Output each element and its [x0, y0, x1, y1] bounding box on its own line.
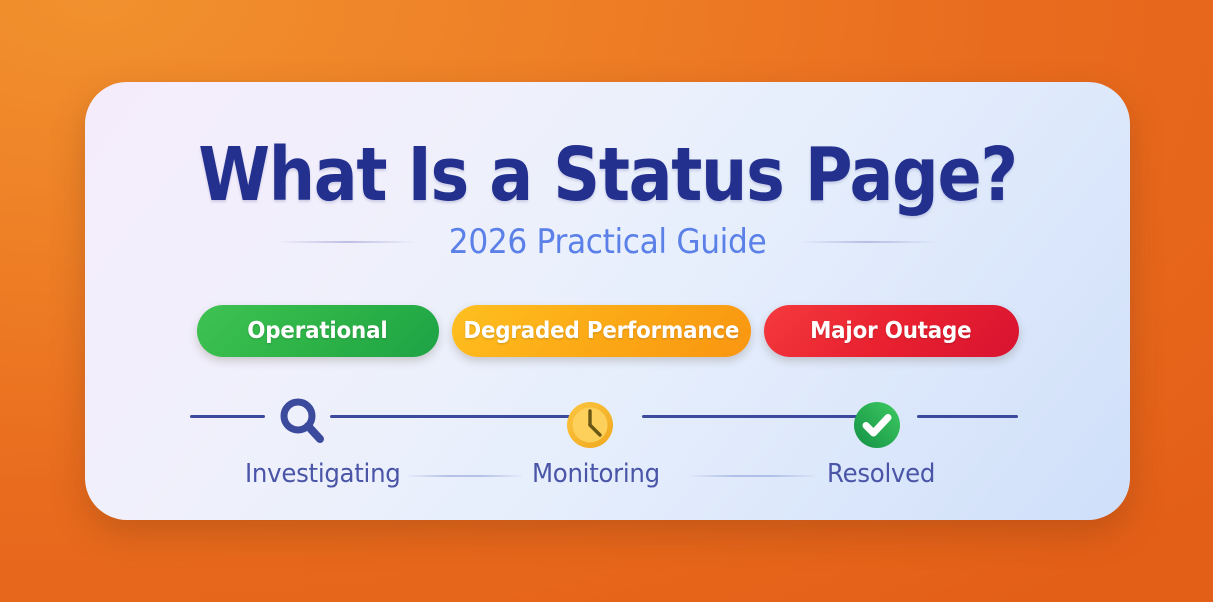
- status-badge-group: Operational Degraded Performance Major O…: [85, 305, 1130, 357]
- badge-degraded-performance-label: Degraded Performance: [463, 318, 739, 344]
- incident-timeline: Investigating Monitoring Resolved: [190, 397, 1018, 497]
- timeline-connector-3: [642, 415, 872, 418]
- badge-major-outage-label: Major Outage: [810, 318, 971, 344]
- page-subtitle: 2026 Practical Guide: [449, 222, 767, 262]
- status-page-card: What Is a Status Page? 2026 Practical Gu…: [85, 82, 1130, 520]
- badge-operational-label: Operational: [247, 318, 387, 344]
- subtitle-rule-right: [798, 241, 938, 243]
- badge-operational[interactable]: Operational: [197, 305, 439, 357]
- timeline-connector-4: [917, 415, 1018, 418]
- badge-major-outage[interactable]: Major Outage: [764, 305, 1019, 357]
- timeline-connector-1: [190, 415, 265, 418]
- subtitle-rule-left: [277, 241, 417, 243]
- check-circle-icon: [849, 397, 905, 453]
- timeline-label-connectors: [190, 475, 1018, 478]
- timeline-label-monitoring: Monitoring: [532, 459, 660, 489]
- timeline-label-resolved: Resolved: [827, 459, 935, 489]
- timeline-connector-2: [330, 415, 597, 418]
- poster-canvas: What Is a Status Page? 2026 Practical Gu…: [0, 0, 1213, 602]
- subtitle-row: 2026 Practical Guide: [85, 222, 1130, 262]
- timeline-label-investigating: Investigating: [245, 459, 401, 489]
- badge-degraded-performance[interactable]: Degraded Performance: [452, 305, 751, 357]
- timeline-label-connector-1: [408, 475, 522, 477]
- clock-icon: [562, 397, 618, 453]
- page-title: What Is a Status Page?: [148, 138, 1068, 212]
- magnifier-icon: [274, 393, 330, 449]
- timeline-label-connector-2: [690, 475, 815, 477]
